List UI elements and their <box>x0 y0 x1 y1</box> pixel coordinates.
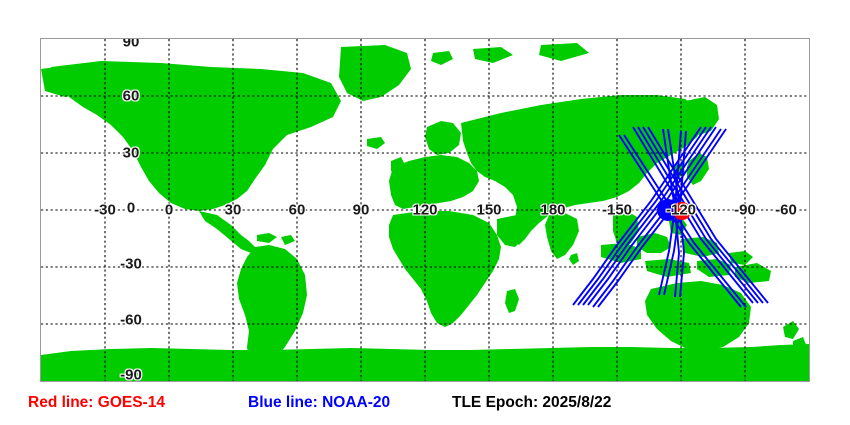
satellite-track-map-page: -30 0 30 60 90 120 150 180 -150 -120 -90… <box>0 0 850 425</box>
legend-blue-line: Blue line: NOAA-20 <box>248 392 390 414</box>
legend: Red line: GOES-14 Blue line: NOAA-20 TLE… <box>0 392 850 420</box>
satellite-markers[interactable] <box>657 199 691 221</box>
goes14-marker <box>673 202 691 220</box>
legend-tle-epoch: TLE Epoch: 2025/8/22 <box>452 392 611 414</box>
map-canvas <box>41 39 809 381</box>
world-map[interactable]: -30 0 30 60 90 120 150 180 -150 -120 -90… <box>40 38 810 382</box>
legend-red-line: Red line: GOES-14 <box>28 392 165 414</box>
